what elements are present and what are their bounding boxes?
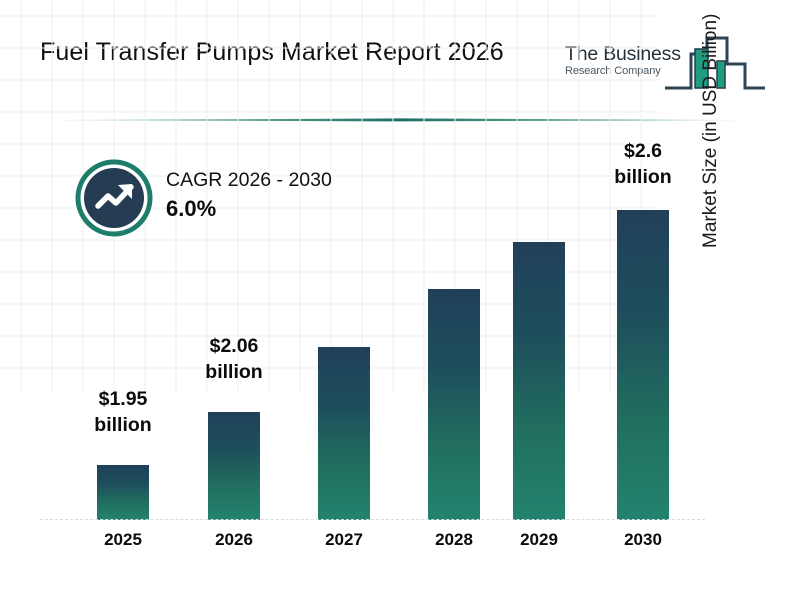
bar-label-2030-amount: $2.6 [593,138,693,164]
bar-label-2026-unit: billion [184,359,284,385]
bar-label-2025-amount: $1.95 [73,386,173,412]
bar-2026[interactable] [208,412,260,520]
cagr-value: 6.0% [166,194,396,224]
bar-label-2025-unit: billion [73,412,173,438]
bar-2025[interactable] [97,465,149,520]
xtick-2029: 2029 [494,530,584,550]
xtick-2028: 2028 [409,530,499,550]
bar-label-2026-amount: $2.06 [184,333,284,359]
xtick-2026: 2026 [189,530,279,550]
xtick-2025: 2025 [78,530,168,550]
y-axis-title: Market Size (in USD Billion) [700,0,722,248]
bar-2027[interactable] [318,347,370,520]
x-axis: 2025 2026 2027 2028 2029 2030 [40,530,705,560]
cagr-label: CAGR 2026 - 2030 [166,167,396,194]
xtick-2027: 2027 [299,530,389,550]
bar-label-2030-unit: billion [593,164,693,190]
bar-2028[interactable] [428,289,480,520]
xtick-2030: 2030 [598,530,688,550]
cagr-callout: CAGR 2026 - 2030 6.0% [74,155,394,250]
axis-baseline [40,519,705,520]
bar-2029[interactable] [513,242,565,520]
cagr-text-block: CAGR 2026 - 2030 6.0% [166,167,396,224]
bar-2030[interactable] [617,210,669,520]
chart-page: Fuel Transfer Pumps Market Report 2026 T… [0,0,800,600]
cagr-badge-icon [74,158,154,238]
